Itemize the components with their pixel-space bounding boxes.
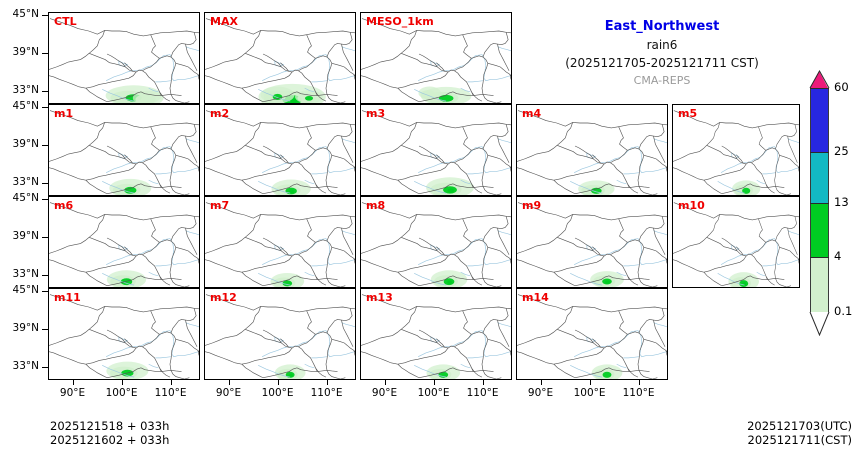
colorbar-segment: [810, 257, 829, 312]
x-tick-mark: [385, 380, 386, 385]
y-tick-mark: [42, 107, 48, 108]
y-axis-label: 45°N: [0, 8, 39, 20]
map-panel-meso_1km[interactable]: MESO_1km: [360, 12, 512, 104]
panel-label-m1: m1: [54, 107, 73, 120]
x-tick-mark: [122, 380, 123, 385]
y-axis-label: 45°N: [0, 100, 39, 112]
y-axis-label: 33°N: [0, 176, 39, 188]
panel-label-m12: m12: [210, 291, 237, 304]
map-panel-m14[interactable]: m14: [516, 288, 668, 380]
panel-label-m11: m11: [54, 291, 81, 304]
y-tick-mark: [42, 367, 48, 368]
y-tick-mark: [42, 275, 48, 276]
panel-label-m3: m3: [366, 107, 385, 120]
map-panel-m2[interactable]: m2: [204, 104, 356, 196]
x-tick-mark: [590, 380, 591, 385]
x-tick-mark: [278, 380, 279, 385]
colorbar-tick-label: 4: [834, 249, 841, 263]
map-panel-m1[interactable]: m1: [48, 104, 200, 196]
y-tick-mark: [42, 145, 48, 146]
panel-label-m9: m9: [522, 199, 541, 212]
colorbar-over-outline: [809, 70, 830, 89]
x-axis-label: 110°E: [145, 387, 197, 399]
y-tick-mark: [42, 183, 48, 184]
x-axis-label: 90°E: [515, 387, 567, 399]
map-panel-m6[interactable]: m6: [48, 196, 200, 288]
variable-title: rain6: [512, 36, 812, 54]
footer-left-line2: 2025121602 + 033h: [50, 433, 169, 447]
panel-label-m2: m2: [210, 107, 229, 120]
map-panel-m9[interactable]: m9: [516, 196, 668, 288]
x-axis-label: 90°E: [359, 387, 411, 399]
map-panel-max[interactable]: MAX: [204, 12, 356, 104]
y-axis-label: 45°N: [0, 192, 39, 204]
x-tick-mark: [73, 380, 74, 385]
y-tick-mark: [42, 199, 48, 200]
x-tick-mark: [639, 380, 640, 385]
map-panel-ctl[interactable]: CTL: [48, 12, 200, 104]
map-panel-m11[interactable]: m11: [48, 288, 200, 380]
source-title: CMA-REPS: [512, 72, 812, 89]
y-tick-mark: [42, 291, 48, 292]
y-axis-label: 33°N: [0, 360, 39, 372]
y-tick-mark: [42, 329, 48, 330]
map-panel-m5[interactable]: m5: [672, 104, 800, 196]
x-tick-mark: [541, 380, 542, 385]
x-axis-label: 110°E: [613, 387, 665, 399]
panel-label-max: MAX: [210, 15, 238, 28]
panel-label-meso_1km: MESO_1km: [366, 15, 434, 28]
y-axis-label: 39°N: [0, 322, 39, 334]
panel-label-m14: m14: [522, 291, 549, 304]
y-tick-mark: [42, 53, 48, 54]
x-axis-label: 110°E: [457, 387, 509, 399]
y-axis-label: 39°N: [0, 230, 39, 242]
y-tick-mark: [42, 15, 48, 16]
colorbar-under-outline: [809, 311, 830, 336]
map-panel-m10[interactable]: m10: [672, 196, 800, 288]
panel-label-m5: m5: [678, 107, 697, 120]
region-title: East_Northwest: [512, 18, 812, 36]
x-tick-mark: [434, 380, 435, 385]
y-axis-label: 39°N: [0, 46, 39, 58]
footer-right-line2: 2025121711(CST): [748, 433, 853, 447]
y-tick-mark: [42, 237, 48, 238]
y-axis-label: 33°N: [0, 84, 39, 96]
panel-label-m10: m10: [678, 199, 705, 212]
panel-label-m13: m13: [366, 291, 393, 304]
y-axis-label: 39°N: [0, 138, 39, 150]
colorbar-segment: [810, 88, 829, 152]
colorbar-tick-label: 13: [834, 195, 849, 209]
x-tick-mark: [229, 380, 230, 385]
colorbar-tick-label: 25: [834, 144, 849, 158]
x-axis-label: 100°E: [408, 387, 460, 399]
x-tick-mark: [171, 380, 172, 385]
colorbar-tick-label: 60: [834, 80, 849, 94]
colorbar-divider: [810, 152, 829, 153]
map-panel-m12[interactable]: m12: [204, 288, 356, 380]
x-axis-label: 100°E: [252, 387, 304, 399]
panel-label-m6: m6: [54, 199, 73, 212]
x-axis-label: 100°E: [564, 387, 616, 399]
colorbar-segment: [810, 203, 829, 257]
time-range-title: (2025121705-2025121711 CST): [512, 54, 812, 72]
y-axis-label: 33°N: [0, 268, 39, 280]
title-block: East_Northwest rain6 (2025121705-2025121…: [512, 18, 812, 89]
colorbar-divider: [810, 257, 829, 258]
x-axis-label: 90°E: [47, 387, 99, 399]
panel-label-m8: m8: [366, 199, 385, 212]
map-panel-m7[interactable]: m7: [204, 196, 356, 288]
map-panel-m8[interactable]: m8: [360, 196, 512, 288]
x-axis-label: 100°E: [96, 387, 148, 399]
map-panel-m3[interactable]: m3: [360, 104, 512, 196]
x-tick-mark: [327, 380, 328, 385]
footer-left-line1: 2025121518 + 033h: [50, 419, 169, 433]
colorbar-divider: [810, 203, 829, 204]
panel-label-m7: m7: [210, 199, 229, 212]
footer-right-line1: 2025121703(UTC): [747, 419, 852, 433]
panel-label-m4: m4: [522, 107, 541, 120]
colorbar-segment: [810, 152, 829, 203]
panel-label-ctl: CTL: [54, 15, 77, 28]
figure-canvas: East_Northwest rain6 (2025121705-2025121…: [0, 0, 860, 454]
map-panel-m4[interactable]: m4: [516, 104, 668, 196]
x-tick-mark: [483, 380, 484, 385]
y-tick-mark: [42, 91, 48, 92]
x-axis-label: 110°E: [301, 387, 353, 399]
x-axis-label: 90°E: [203, 387, 255, 399]
y-axis-label: 45°N: [0, 284, 39, 296]
colorbar-tick-label: 0.1: [834, 304, 852, 318]
map-panel-m13[interactable]: m13: [360, 288, 512, 380]
